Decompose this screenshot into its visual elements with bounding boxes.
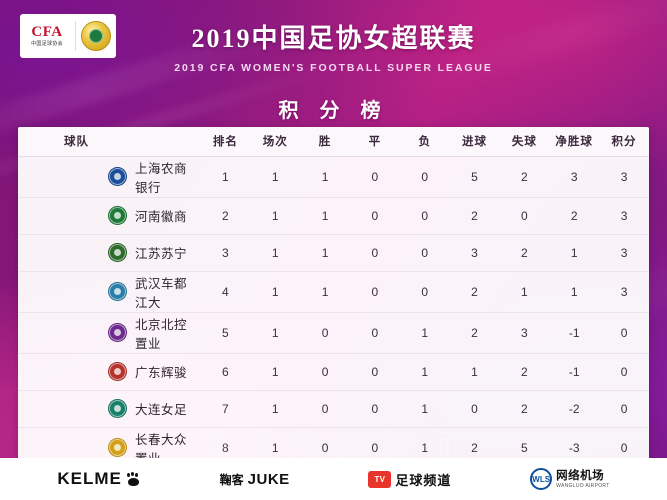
standings-poster: CFA 中国足球协会 2019中国足协女超联赛 2019 CFA WOMEN'S… — [0, 0, 667, 500]
column-header-rank: 排名 — [200, 127, 250, 156]
team-crest-icon — [108, 206, 127, 225]
cell-loss: 0 — [400, 197, 450, 234]
cell-points: 3 — [599, 197, 649, 234]
cell-gf: 1 — [450, 353, 500, 390]
table-row[interactable]: 上海农商银行 1 1 1 0 0 5 2 3 3 — [18, 156, 649, 197]
cell-win: 1 — [300, 197, 350, 234]
table-row[interactable]: 北京北控置业 5 1 0 0 1 2 3 -1 0 — [18, 312, 649, 353]
team-name: 河南徽商 — [135, 206, 187, 225]
team-cell: 上海农商银行 — [18, 156, 200, 197]
column-header-played: 场次 — [250, 127, 300, 156]
team-crest-icon — [108, 323, 127, 342]
cell-ga: 1 — [499, 271, 549, 312]
cell-win: 0 — [300, 390, 350, 427]
cfa-logo: CFA 中国足球协会 — [20, 14, 116, 58]
cell-played: 1 — [250, 197, 300, 234]
cell-ga: 2 — [499, 390, 549, 427]
team-name: 上海农商银行 — [135, 158, 199, 196]
sponsor-juke-word: JUKE — [248, 471, 290, 488]
cell-draw: 0 — [350, 156, 400, 197]
cell-gd: 1 — [549, 271, 599, 312]
sponsor-wls-en: WANGLUO AIRPORT — [556, 483, 609, 489]
team-crest-icon — [108, 399, 127, 418]
cell-ga: 2 — [499, 353, 549, 390]
cell-loss: 0 — [400, 156, 450, 197]
cell-gf: 2 — [450, 197, 500, 234]
cell-played: 1 — [250, 156, 300, 197]
sponsor-football-channel-cn: 足球频道 — [395, 470, 451, 489]
tv-badge-icon: TV — [368, 471, 391, 488]
cell-loss: 1 — [400, 353, 450, 390]
sponsor-kelme-word: KELME — [57, 469, 122, 489]
poster-header: CFA 中国足球协会 2019中国足协女超联赛 2019 CFA WOMEN'S… — [0, 0, 667, 86]
team-cell: 北京北控置业 — [18, 312, 200, 353]
cell-win: 0 — [300, 312, 350, 353]
cell-draw: 0 — [350, 353, 400, 390]
column-header-points: 积分 — [599, 127, 649, 156]
standings-table: 球队 排名 场次 胜 平 负 进球 失球 净胜球 积分 — [18, 127, 649, 468]
cell-ga: 0 — [499, 197, 549, 234]
cell-win: 1 — [300, 156, 350, 197]
team-crest-icon — [108, 243, 127, 262]
cell-gd: -2 — [549, 390, 599, 427]
standings-table-body: 上海农商银行 1 1 1 0 0 5 2 3 3 — [18, 156, 649, 468]
table-row[interactable]: 河南徽商 2 1 1 0 0 2 0 2 3 — [18, 197, 649, 234]
cell-win: 0 — [300, 353, 350, 390]
table-row[interactable]: 广东辉骏 6 1 0 0 1 1 2 -1 0 — [18, 353, 649, 390]
cell-points: 0 — [599, 312, 649, 353]
team-crest-icon — [108, 167, 127, 186]
cell-ga: 2 — [499, 156, 549, 197]
cell-gf: 0 — [450, 390, 500, 427]
cell-draw: 0 — [350, 271, 400, 312]
cell-rank: 5 — [200, 312, 250, 353]
team-name: 大连女足 — [135, 399, 187, 418]
cell-gf: 2 — [450, 312, 500, 353]
cell-played: 1 — [250, 390, 300, 427]
team-cell: 江苏苏宁 — [18, 234, 200, 271]
team-crest-icon — [108, 362, 127, 381]
cell-gd: -1 — [549, 353, 599, 390]
sponsor-wls[interactable]: WLS 网络机场 WANGLUO AIRPORT — [530, 468, 609, 490]
team-name: 广东辉骏 — [135, 362, 187, 381]
team-cell: 广东辉骏 — [18, 353, 200, 390]
cell-win: 1 — [300, 234, 350, 271]
column-header-draw: 平 — [350, 127, 400, 156]
cell-loss: 0 — [400, 271, 450, 312]
cell-points: 3 — [599, 156, 649, 197]
cell-rank: 2 — [200, 197, 250, 234]
team-name: 江苏苏宁 — [135, 243, 187, 262]
section-title: 积 分 榜 — [0, 94, 667, 123]
column-header-gd: 净胜球 — [549, 127, 599, 156]
cell-gd: 3 — [549, 156, 599, 197]
cell-points: 3 — [599, 271, 649, 312]
team-cell: 武汉车都江大 — [18, 271, 200, 312]
team-crest-icon — [108, 282, 127, 301]
column-header-ga: 失球 — [499, 127, 549, 156]
standings-table-container: 球队 排名 场次 胜 平 负 进球 失球 净胜球 积分 — [18, 127, 649, 468]
cell-win: 1 — [300, 271, 350, 312]
cell-gf: 3 — [450, 234, 500, 271]
cell-points: 0 — [599, 390, 649, 427]
cell-rank: 4 — [200, 271, 250, 312]
team-crest-icon — [108, 438, 127, 457]
cell-ga: 2 — [499, 234, 549, 271]
cfa-logo-word: CFA — [24, 25, 70, 40]
cell-points: 3 — [599, 234, 649, 271]
column-header-win: 胜 — [300, 127, 350, 156]
sponsor-kelme[interactable]: KELME — [57, 469, 141, 489]
sponsor-bar: KELME 鞠客 JUKE TV 足球频道 WLS 网络机场 WANGLUO A… — [0, 458, 667, 500]
logo-divider — [75, 21, 76, 51]
cell-gd: 1 — [549, 234, 599, 271]
team-cell: 河南徽商 — [18, 197, 200, 234]
column-header-loss: 负 — [400, 127, 450, 156]
table-row[interactable]: 武汉车都江大 4 1 1 0 0 2 1 1 3 — [18, 271, 649, 312]
page-subtitle-en: 2019 CFA WOMEN'S FOOTBALL SUPER LEAGUE — [0, 62, 667, 74]
team-cell: 大连女足 — [18, 390, 200, 427]
cell-played: 1 — [250, 312, 300, 353]
cell-played: 1 — [250, 234, 300, 271]
cell-draw: 0 — [350, 234, 400, 271]
cfa-emblem-icon — [81, 21, 111, 51]
cell-draw: 0 — [350, 197, 400, 234]
cell-gf: 2 — [450, 271, 500, 312]
cell-played: 1 — [250, 353, 300, 390]
cell-gf: 5 — [450, 156, 500, 197]
cell-rank: 7 — [200, 390, 250, 427]
cell-draw: 0 — [350, 312, 400, 353]
column-header-gf: 进球 — [450, 127, 500, 156]
sponsor-juke[interactable]: 鞠客 JUKE — [220, 471, 290, 488]
cell-gd: -1 — [549, 312, 599, 353]
paw-print-icon — [126, 473, 141, 486]
cell-ga: 3 — [499, 312, 549, 353]
cell-loss: 1 — [400, 312, 450, 353]
cell-loss: 1 — [400, 390, 450, 427]
sponsor-football-channel[interactable]: TV 足球频道 — [368, 470, 451, 489]
team-name: 北京北控置业 — [135, 314, 199, 352]
cell-points: 0 — [599, 353, 649, 390]
table-row[interactable]: 大连女足 7 1 0 0 1 0 2 -2 0 — [18, 390, 649, 427]
cell-loss: 0 — [400, 234, 450, 271]
team-name: 武汉车都江大 — [135, 273, 199, 311]
cell-gd: 2 — [549, 197, 599, 234]
sponsor-juke-cn: 鞠客 — [220, 471, 244, 488]
cell-draw: 0 — [350, 390, 400, 427]
sponsor-wls-cn: 网络机场 — [556, 469, 609, 483]
cfa-logo-subtext: 中国足球协会 — [24, 42, 70, 47]
cell-played: 1 — [250, 271, 300, 312]
wls-logo-icon: WLS — [530, 468, 552, 490]
table-row[interactable]: 江苏苏宁 3 1 1 0 0 3 2 1 3 — [18, 234, 649, 271]
cell-rank: 3 — [200, 234, 250, 271]
cell-rank: 6 — [200, 353, 250, 390]
column-header-team: 球队 — [18, 127, 200, 156]
table-header-row: 球队 排名 场次 胜 平 负 进球 失球 净胜球 积分 — [18, 127, 649, 156]
cell-rank: 1 — [200, 156, 250, 197]
